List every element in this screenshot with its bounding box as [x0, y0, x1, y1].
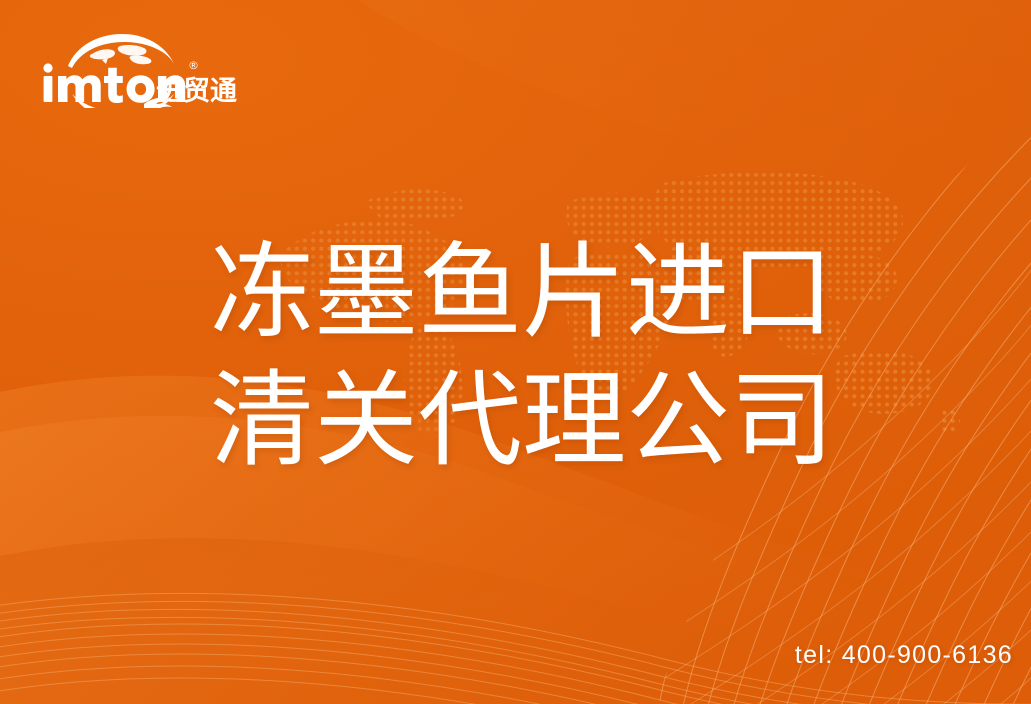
logo-chinese-text: 进贸通: [156, 76, 237, 107]
headline: 冻墨鱼片进口 清关代理公司: [210, 228, 850, 484]
company-logo[interactable]: 进贸通 ®: [36, 28, 246, 108]
promo-banner: 进贸通 ® 冻墨鱼片进口 清关代理公司 tel: 400-900-6136: [0, 0, 1031, 704]
registered-trademark-icon: ®: [188, 59, 199, 72]
contact-phone[interactable]: tel: 400-900-6136: [795, 641, 1013, 670]
headline-line-1: 冻墨鱼片进口: [210, 228, 850, 356]
headline-line-2: 清关代理公司: [210, 356, 850, 484]
